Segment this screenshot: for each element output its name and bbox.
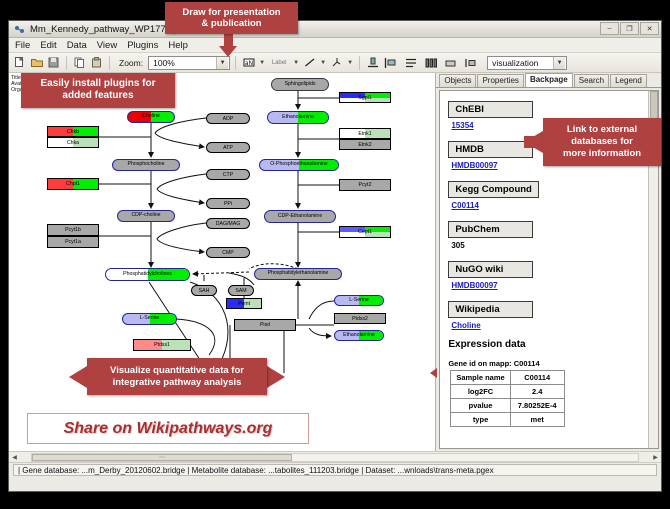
gene-label: Ptdss2	[352, 316, 368, 322]
gene-node[interactable]: Ptdss1	[133, 339, 191, 351]
align-left-icon[interactable]	[382, 55, 400, 71]
expr-key: Sample name	[451, 371, 510, 385]
line-dropdown-icon[interactable]: ▼	[319, 60, 327, 66]
callout-visualize-line2: integrative pathway analysis	[113, 377, 242, 389]
minimize-button[interactable]: –	[600, 22, 619, 35]
label-icon[interactable]: Label	[268, 55, 290, 71]
maximize-button[interactable]: ❐	[620, 22, 639, 35]
gene-node[interactable]: Ptdss2	[334, 313, 386, 324]
cofactor-label: PPi	[224, 201, 232, 207]
metabolite-node[interactable]: Ethanolamine	[267, 111, 329, 124]
cofactor-node[interactable]: ATP	[206, 142, 250, 153]
callout-visualize-left-arrow-icon	[69, 366, 87, 388]
metabolite-label: Ethanolamine	[282, 115, 314, 120]
pathvisio-window: Mm_Kennedy_pathway_WP1771_45176.gpml – ❐…	[8, 20, 662, 492]
db-link-wikipedia[interactable]: Choline	[451, 321, 658, 330]
expr-key: type	[451, 413, 510, 427]
cofactor-node[interactable]: PPi	[206, 198, 250, 209]
stack-icon[interactable]	[402, 55, 420, 71]
db-header-pubchem: PubChem	[448, 221, 533, 238]
cofactor-label: SAH	[199, 288, 210, 294]
gene-node[interactable]: Chkb	[47, 126, 99, 137]
table-row: log2FC 2.4	[451, 385, 564, 399]
window-controls: – ❐ ✕	[600, 22, 659, 35]
pathvisio-icon	[14, 24, 25, 35]
tab-properties[interactable]: Properties	[477, 74, 523, 87]
expr-key: pvalue	[451, 399, 510, 413]
visualization-combo[interactable]: visualization ▼	[487, 56, 567, 70]
metabolite-node[interactable]: Ethanolamine	[334, 330, 384, 341]
gene-label: Pemt	[238, 301, 250, 307]
gene-node[interactable]: Pcyt1b	[47, 224, 99, 236]
hscroll-thumb[interactable]: ⋯	[32, 454, 292, 461]
metabolite-label: Phosphatidylethanolamine	[268, 271, 329, 276]
gene-node[interactable]: Pcyt1a	[47, 236, 99, 248]
expression-data-heading: Expression data	[448, 339, 658, 350]
metabolite-label: O-Phosphoethanolamine	[270, 162, 327, 167]
zoom-value: 100%	[153, 58, 175, 68]
pathway-canvas[interactable]: Title: Availa Organi	[9, 73, 436, 451]
callout-plugins: Easily install plugins for added feature…	[21, 73, 175, 108]
gene-label: Pcyt2	[359, 182, 372, 188]
metabolite-node[interactable]: CDP-Ethanolamine	[264, 210, 336, 223]
db-link-nugo[interactable]: HMDB00097	[451, 281, 658, 290]
new-icon[interactable]	[12, 55, 27, 71]
datanode-icon[interactable]: aN	[241, 55, 256, 71]
callout-link-line2: databases for	[571, 136, 633, 148]
line-icon[interactable]	[302, 55, 317, 71]
cofactor-node[interactable]: CTP	[206, 169, 250, 180]
metabolite-label: L-Serine	[140, 316, 160, 321]
callout-plugins-line1: Easily install plugins for	[40, 78, 155, 90]
cofactor-node[interactable]: SAH	[191, 285, 217, 296]
callout-draw-line1: Draw for presentation	[182, 7, 280, 18]
gene-label: Pcyt1a	[65, 239, 81, 245]
cofactor-label: DAG/MAG	[216, 221, 241, 227]
metabolite-label: CDP-Ethanolamine	[278, 214, 322, 219]
gene-node[interactable]: Cept1	[339, 226, 391, 238]
gene-label: Etnk2	[358, 142, 371, 148]
cofactor-node[interactable]: ADP	[206, 113, 250, 124]
share-banner: Share on Wikipathways.org	[27, 413, 309, 444]
zoom-label: Zoom:	[119, 58, 143, 68]
close-button[interactable]: ✕	[640, 22, 659, 35]
callout-draw-line2: & publication	[201, 18, 261, 29]
gene-node[interactable]: Pemt	[226, 298, 262, 309]
callout-draw: Draw for presentation & publication	[165, 2, 298, 34]
receptor-dropdown-icon[interactable]: ▼	[346, 60, 354, 66]
tab-search[interactable]: Search	[574, 74, 609, 87]
cofactor-label: CTP	[223, 172, 233, 178]
db-header-nugo: NuGO wiki	[448, 261, 533, 278]
hscroll-track[interactable]: ⋯	[31, 453, 639, 462]
scroll-right-icon[interactable]: ▶	[650, 453, 661, 462]
gene-label: Chkb	[67, 129, 79, 135]
gene-node[interactable]: Pisd	[234, 319, 296, 331]
menu-view[interactable]: View	[97, 40, 117, 51]
menu-edit[interactable]: Edit	[40, 40, 56, 51]
gene-node[interactable]: Etnk1	[339, 128, 391, 139]
gene-label: Pcyt1b	[65, 227, 81, 233]
status-bar: | Gene database: ...m_Derby_20120602.bri…	[9, 462, 661, 477]
receptor-icon[interactable]	[329, 55, 344, 71]
side-panel-tabs: Objects Properties Backpage Search Legen…	[436, 73, 661, 88]
gene-label: Chpt1	[66, 181, 80, 187]
callout-visualize-line1: Visualize quantitative data for	[110, 365, 244, 377]
canvas-horizontal-scrollbar[interactable]: ◀ ⋯ ▶	[9, 451, 661, 462]
toolbar-separator	[66, 56, 67, 70]
share-banner-text: Share on Wikipathways.org	[64, 420, 273, 438]
menu-help[interactable]: Help	[168, 40, 188, 51]
db-header-hmdb: HMDB	[448, 141, 533, 158]
expression-pointer-icon	[430, 368, 437, 378]
svg-text:aN: aN	[245, 60, 253, 67]
zoom-combo[interactable]: 100% ▼	[148, 56, 230, 70]
metabolite-node[interactable]: Phosphatidylcholines	[105, 268, 190, 281]
metabolite-label: Sphingolipids	[285, 82, 316, 87]
callout-draw-arrow-stem	[224, 33, 233, 47]
cofactor-label: ADP	[223, 116, 234, 122]
callout-link-line3: more information	[563, 148, 641, 160]
open-icon[interactable]	[29, 55, 44, 71]
gene-node[interactable]: Chpt1	[47, 178, 99, 190]
gene-node[interactable]: Chka	[47, 137, 99, 148]
gene-label: Etnk1	[358, 131, 371, 137]
metabolite-label: Ethanolamine	[343, 333, 375, 338]
distribute-icon[interactable]	[422, 55, 440, 71]
gene-node[interactable]: Pcyt2	[339, 179, 391, 191]
expr-value: 2.4	[510, 385, 564, 399]
menu-bar: File Edit Data View Plugins Help	[9, 38, 661, 53]
db-header-chebi: ChEBI	[448, 101, 533, 118]
cofactor-node[interactable]: DAG/MAG	[206, 218, 250, 229]
paste-icon[interactable]	[89, 55, 104, 71]
gene-id-on-mapp-label: Gene id on mapp: C00114	[448, 359, 658, 368]
gene-node[interactable]: Sgpl1	[339, 92, 391, 103]
tab-backpage[interactable]: Backpage	[525, 73, 573, 87]
menu-data[interactable]: Data	[67, 40, 87, 51]
table-row: pvalue 7.80252E-4	[451, 399, 564, 413]
save-icon[interactable]	[46, 55, 61, 71]
metabolite-node[interactable]: L-Serine	[334, 295, 384, 306]
title-bar: Mm_Kennedy_pathway_WP1771_45176.gpml – ❐…	[9, 21, 661, 38]
status-text: | Gene database: ...m_Derby_20120602.bri…	[13, 464, 657, 476]
expression-table: Sample name C00114 log2FC 2.4 pvalue 7.8…	[450, 370, 564, 427]
callout-link: Link to external databases for more info…	[543, 118, 661, 166]
menu-file[interactable]: File	[15, 40, 30, 51]
metabolite-node[interactable]: Phosphocholine	[112, 159, 180, 171]
chevron-down-icon[interactable]: ▼	[216, 57, 228, 69]
toolbar: Zoom: 100% ▼ aN ▼ Label ▼ ▼ ▼	[9, 53, 661, 73]
metabolite-node[interactable]: Choline	[127, 111, 175, 123]
metabolite-node[interactable]: Sphingolipids	[271, 78, 329, 91]
metabolite-label: L-Serine	[349, 298, 369, 303]
visualization-value: visualization	[492, 58, 538, 68]
gene-node[interactable]: Etnk2	[339, 139, 391, 150]
metabolite-node[interactable]: CDP-choline	[117, 210, 175, 222]
expr-key: log2FC	[451, 385, 510, 399]
expr-value: met	[510, 413, 564, 427]
expr-value: 7.80252E-4	[510, 399, 564, 413]
db-header-kegg: Kegg Compound	[448, 181, 539, 198]
cofactor-label: CMP	[222, 250, 234, 256]
metabolite-label: Phosphocholine	[128, 162, 165, 167]
tab-objects[interactable]: Objects	[439, 74, 476, 87]
metabolite-node[interactable]: Phosphatidylethanolamine	[254, 268, 342, 280]
db-link-kegg[interactable]: C00114	[451, 201, 658, 210]
metabolite-label: Choline	[142, 114, 160, 119]
cofactor-node[interactable]: SAM	[228, 285, 254, 296]
group-icon[interactable]	[442, 55, 460, 71]
callout-plugins-line2: added features	[62, 90, 133, 102]
toolbar-separator-3	[235, 56, 236, 70]
toolbar-separator-4	[359, 56, 360, 70]
gene-label: Pisd	[260, 322, 270, 328]
gene-label: Sgpl1	[358, 95, 371, 101]
cofactor-node[interactable]: CMP	[206, 247, 250, 258]
order-icon[interactable]	[462, 55, 480, 71]
expr-value: C00114	[510, 371, 564, 385]
callout-link-line1: Link to external	[567, 124, 637, 136]
table-row: Sample name C00114	[451, 371, 564, 385]
label-dropdown-icon[interactable]: ▼	[292, 60, 300, 66]
metabolite-label: Phosphatidylcholines	[123, 272, 172, 277]
visualization-chevron-down-icon[interactable]: ▼	[553, 57, 565, 69]
gene-label: Chka	[67, 140, 79, 146]
scroll-left-icon[interactable]: ◀	[9, 453, 20, 462]
tab-legend[interactable]: Legend	[610, 74, 647, 87]
gene-label: Cept1	[358, 229, 372, 235]
db-header-wikipedia: Wikipedia	[448, 301, 533, 318]
datanode-dropdown-icon[interactable]: ▼	[258, 60, 266, 66]
callout-visualize: Visualize quantitative data for integrat…	[87, 358, 267, 395]
cofactor-label: ATP	[223, 145, 233, 151]
cofactor-label: SAM	[235, 288, 246, 294]
metabolite-node[interactable]: O-Phosphoethanolamine	[259, 159, 339, 171]
callout-draw-arrow-icon	[219, 46, 237, 57]
db-value-pubchem: 305	[451, 241, 658, 250]
toolbar-separator-2	[109, 56, 110, 70]
metabolite-label: CDP-choline	[131, 213, 160, 218]
metabolite-node[interactable]: L-Serine	[122, 313, 177, 325]
callout-visualize-right-arrow-icon	[267, 366, 285, 388]
table-row: type met	[451, 413, 564, 427]
menu-plugins[interactable]: Plugins	[127, 40, 158, 51]
align-bottom-icon[interactable]	[365, 55, 380, 71]
gene-label: Ptdss1	[154, 342, 170, 348]
copy-icon[interactable]	[72, 55, 87, 71]
